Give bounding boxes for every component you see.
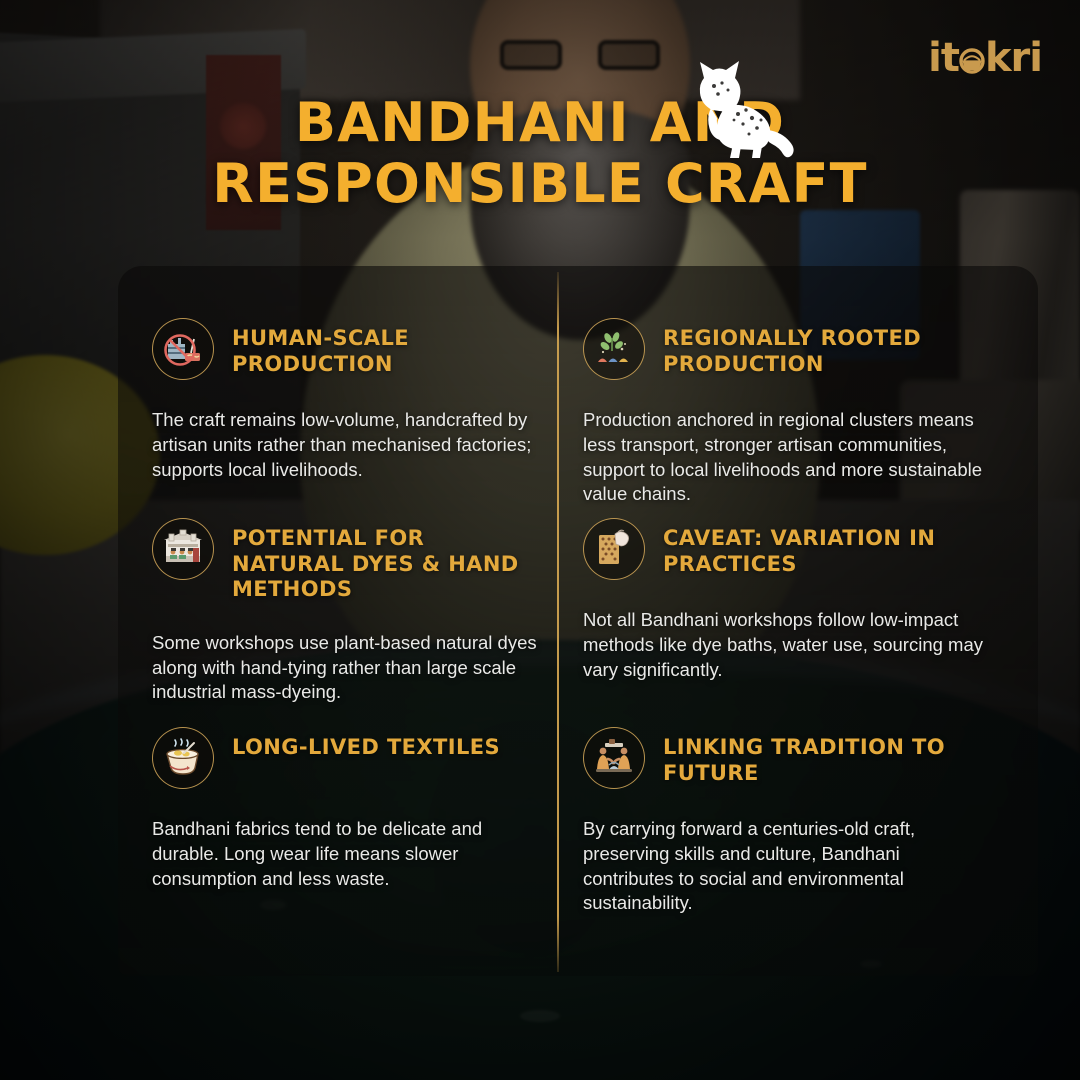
cat-silhouette-icon [686,56,802,160]
hand-holding-patterned-fabric-icon [583,518,645,580]
card-caveat-variation-in-practices: CAVEAT: VARIATION IN PRACTICES Not all B… [583,518,983,682]
card-linking-tradition-to-future: LINKING TRADITION TO FUTURE By carrying … [583,727,983,916]
card-long-lived-textiles: LONG-LIVED TEXTILES Bandhani fabrics ten… [152,727,544,891]
steaming-dye-pot-icon [152,727,214,789]
two-artisans-working-icon [583,727,645,789]
craft-workshop-building-icon [152,518,214,580]
card-title: HUMAN-SCALE PRODUCTION [232,318,544,377]
card-title: REGIONALLY ROOTED PRODUCTION [663,318,983,377]
card-title: LONG-LIVED TEXTILES [232,727,500,761]
infographic-poster: it kri // keep logo letters from the JSO… [0,0,1080,1080]
card-body: Bandhani fabrics tend to be delicate and… [152,817,544,891]
card-body: By carrying forward a centuries-old craf… [583,817,983,916]
card-title: POTENTIAL FOR NATURAL DYES & HAND METHOD… [232,518,544,603]
card-body: Production anchored in regional clusters… [583,408,983,507]
card-title: LINKING TRADITION TO FUTURE [663,727,983,786]
card-body: Not all Bandhani workshops follow low-im… [583,608,983,682]
card-potential-for-natural-dyes: POTENTIAL FOR NATURAL DYES & HAND METHOD… [152,518,544,705]
cards-grid: HUMAN-SCALE PRODUCTION The craft remains… [0,0,1080,1080]
leaves-and-dye-powders-icon [583,318,645,380]
card-human-scale-production: HUMAN-SCALE PRODUCTION The craft remains… [152,318,544,482]
card-body: Some workshops use plant-based natural d… [152,631,544,705]
no-factory-icon [152,318,214,380]
card-regionally-rooted-production: REGIONALLY ROOTED PRODUCTION Production … [583,318,983,507]
card-title: CAVEAT: VARIATION IN PRACTICES [663,518,983,577]
card-body: The craft remains low-volume, handcrafte… [152,408,544,482]
